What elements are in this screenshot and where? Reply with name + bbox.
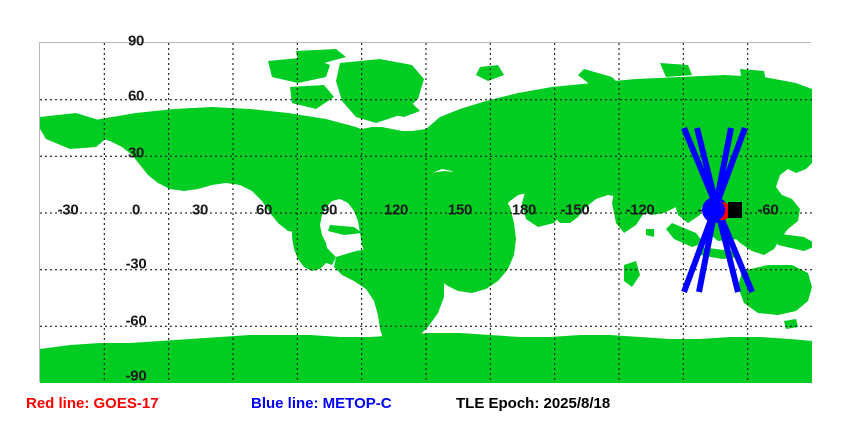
lat-tick--60: -60 (126, 314, 147, 329)
legend-metopc: Blue line: METOP-C (251, 396, 392, 411)
lon-tick--60: -60 (758, 203, 779, 218)
lat-tick-30: 30 (128, 146, 144, 161)
world-map-svg (40, 43, 812, 383)
lat-tick--30: -30 (126, 257, 147, 272)
lon-tick--30: -30 (58, 203, 79, 218)
lon-tick--90: -90 (698, 203, 719, 218)
legend-tle-epoch: TLE Epoch: 2025/8/18 (456, 396, 610, 411)
lat-tick-60: 60 (128, 89, 144, 104)
lon-tick-0: 0 (132, 203, 140, 218)
lon-tick-60: 60 (256, 203, 272, 218)
lat-tick-90: 90 (128, 34, 144, 49)
lon-tick-150: 150 (448, 203, 472, 218)
legend: Red line: GOES-17 Blue line: METOP-C TLE… (0, 396, 850, 420)
lon-tick-180: 180 (512, 203, 536, 218)
lon-tick-120: 120 (384, 203, 408, 218)
lon-tick-90: 90 (321, 203, 337, 218)
legend-goes17: Red line: GOES-17 (26, 396, 159, 411)
map-plot-area[interactable]: -30 0 30 60 90 120 150 180 -150 -120 -90… (39, 42, 811, 382)
lat-tick--90: -90 (126, 369, 147, 384)
lon-tick--120: -120 (626, 203, 655, 218)
lon-tick--150: -150 (561, 203, 590, 218)
lon-tick-30: 30 (192, 203, 208, 218)
satellite-ground-track-map: -30 0 30 60 90 120 150 180 -150 -120 -90… (0, 0, 850, 425)
